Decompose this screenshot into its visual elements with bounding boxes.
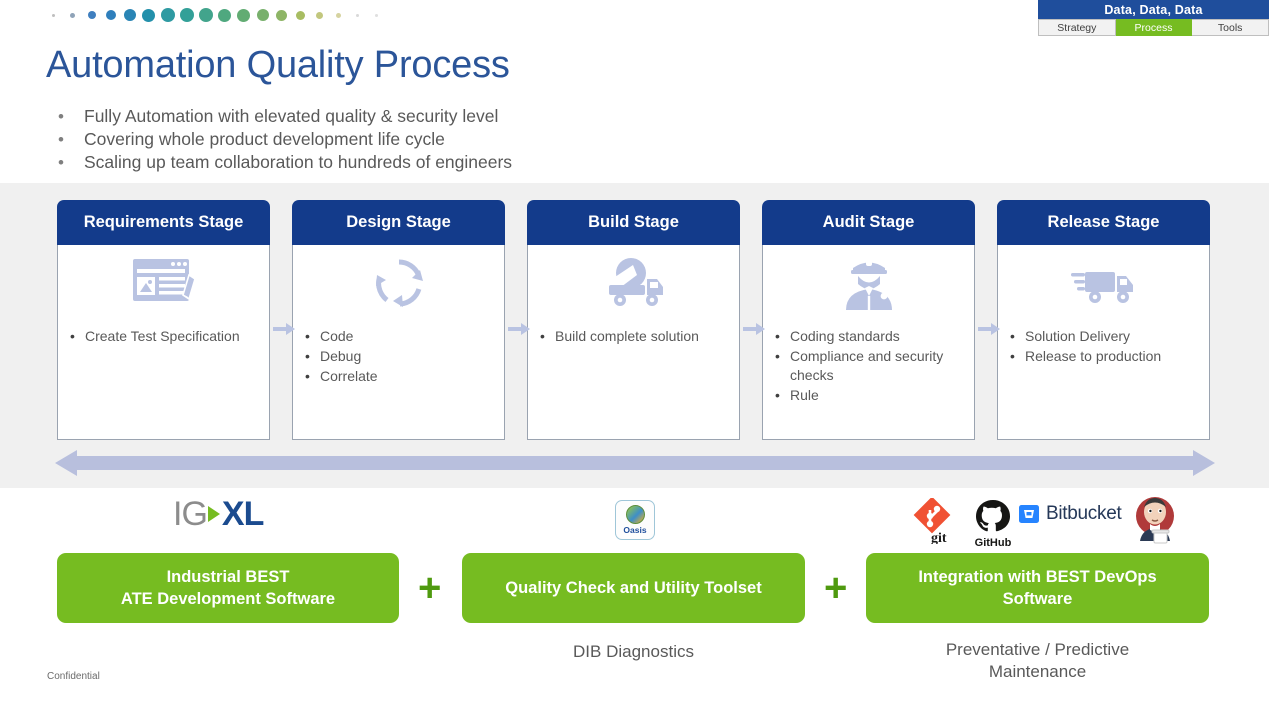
- list-item: • Release to production: [1010, 347, 1199, 366]
- stage-title: Design Stage: [292, 200, 505, 245]
- list-item: • Rule: [775, 386, 964, 405]
- decorative-dot: [375, 14, 378, 17]
- pillar-line-2: ATE Development Software: [121, 588, 335, 610]
- stage-bullet-text: Release to production: [1025, 347, 1161, 366]
- document-edit-icon: [58, 245, 269, 321]
- tab-process[interactable]: Process: [1116, 19, 1193, 36]
- bullet-text: Covering whole product development life …: [84, 128, 445, 150]
- stage-card-release[interactable]: Release Stage • S: [997, 200, 1210, 440]
- bullet-marker-icon: •: [58, 152, 84, 173]
- jenkins-logo: [1132, 495, 1178, 545]
- list-item: • Compliance and security checks: [775, 347, 964, 385]
- bullet-marker-icon: •: [775, 386, 790, 405]
- list-item: • Fully Automation with elevated quality…: [58, 105, 858, 127]
- oasis-globe-icon: [626, 505, 645, 524]
- bullet-marker-icon: •: [775, 347, 790, 366]
- decorative-dot: [237, 9, 250, 22]
- caption-preventative-maintenance: Preventative / Predictive Maintenance: [866, 639, 1209, 683]
- caption-line-2: Maintenance: [866, 661, 1209, 683]
- bitbucket-logo-label: Bitbucket: [1046, 503, 1121, 525]
- bullet-marker-icon: •: [305, 367, 320, 386]
- stage-card-row: Requirements Stage: [0, 200, 1269, 445]
- decorative-dot: [336, 13, 341, 18]
- delivery-truck-icon: [998, 245, 1209, 321]
- git-logo: git: [908, 498, 956, 544]
- plus-separator-2: +: [824, 568, 847, 608]
- stage-title: Audit Stage: [762, 200, 975, 245]
- page-title: Automation Quality Process: [46, 44, 510, 87]
- pillar-line-1: Integration with BEST DevOps: [918, 566, 1156, 588]
- stage-bullet-text: Solution Delivery: [1025, 327, 1130, 346]
- stage-body: • Coding standards • Compliance and secu…: [762, 245, 975, 440]
- stage-bullet-text: Coding standards: [790, 327, 900, 346]
- bullet-marker-icon: •: [305, 347, 320, 366]
- bitbucket-mark-icon: [1018, 503, 1040, 525]
- list-item: • Create Test Specification: [70, 327, 259, 346]
- tab-tools[interactable]: Tools: [1192, 19, 1269, 36]
- stage-title: Build Stage: [527, 200, 740, 245]
- stage-card-requirements[interactable]: Requirements Stage: [57, 200, 270, 440]
- bullet-marker-icon: •: [58, 129, 84, 150]
- stage-body: • Solution Delivery • Release to product…: [997, 245, 1210, 440]
- bullet-text: Scaling up team collaboration to hundred…: [84, 151, 512, 173]
- header-bullet-list: • Fully Automation with elevated quality…: [58, 105, 858, 174]
- bullet-marker-icon: •: [1010, 327, 1025, 346]
- bullet-marker-icon: •: [540, 327, 555, 346]
- decorative-dot: [161, 8, 175, 22]
- decorative-dot: [88, 11, 96, 19]
- igxl-logo-triangle-icon: [208, 506, 220, 522]
- igxl-logo-text-ig: IG: [173, 494, 207, 534]
- stage-bullet-text: Compliance and security checks: [790, 347, 964, 385]
- plus-separator-1: +: [418, 568, 441, 608]
- stage-body: • Build complete solution: [527, 245, 740, 440]
- stage-bullet-list: • Coding standards • Compliance and secu…: [763, 321, 974, 405]
- stage-title: Requirements Stage: [57, 200, 270, 245]
- decorative-dot-strip: [44, 7, 386, 23]
- tab-strategy[interactable]: Strategy: [1038, 19, 1116, 36]
- stage-card-build[interactable]: Build Stage • Build complete: [527, 200, 740, 440]
- bullet-marker-icon: •: [1010, 347, 1025, 366]
- igxl-logo: IG XL: [173, 494, 263, 534]
- stage-card-audit[interactable]: Audit Stage • Coding standards: [762, 200, 975, 440]
- decorative-dot: [296, 11, 305, 20]
- stage-bullet-text: Rule: [790, 386, 819, 405]
- bitbucket-logo: Bitbucket: [1018, 503, 1121, 525]
- oasis-logo-label: Oasis: [623, 525, 646, 535]
- stage-bullet-list: • Build complete solution: [528, 321, 739, 346]
- svg-text:git: git: [931, 531, 947, 544]
- nav-block: Data, Data, Data Strategy Process Tools: [1038, 0, 1269, 36]
- decorative-dot: [70, 13, 75, 18]
- cement-mixer-truck-icon: [528, 245, 739, 321]
- decorative-dot: [356, 14, 359, 17]
- decorative-dot: [52, 14, 55, 17]
- github-logo: GitHub: [968, 498, 1018, 544]
- stage-bullet-text: Create Test Specification: [85, 327, 240, 346]
- stage-bullet-text: Correlate: [320, 367, 378, 386]
- confidential-label: Confidential: [47, 671, 100, 682]
- nav-tabs: Strategy Process Tools: [1038, 19, 1269, 36]
- bullet-marker-icon: •: [305, 327, 320, 346]
- list-item: • Solution Delivery: [1010, 327, 1199, 346]
- stage-card-design[interactable]: Design Stage • Code: [292, 200, 505, 440]
- list-item: • Covering whole product development lif…: [58, 128, 858, 150]
- pillar-line-1: Quality Check and Utility Toolset: [505, 577, 761, 599]
- nav-title: Data, Data, Data: [1038, 0, 1269, 19]
- oasis-logo: Oasis: [615, 500, 655, 540]
- decorative-dot: [276, 10, 287, 21]
- stage-body: • Code • Debug • Correlate: [292, 245, 505, 440]
- bullet-text: Fully Automation with elevated quality &…: [84, 105, 498, 127]
- bullet-marker-icon: •: [775, 327, 790, 346]
- stage-bullet-list: • Create Test Specification: [58, 321, 269, 346]
- caption-line-1: Preventative / Predictive: [866, 639, 1209, 661]
- pillar-industrial-best[interactable]: Industrial BEST ATE Development Software: [57, 553, 399, 623]
- stage-bullet-list: • Solution Delivery • Release to product…: [998, 321, 1209, 366]
- list-item: • Scaling up team collaboration to hundr…: [58, 151, 858, 173]
- stage-connector-arrow-icon: [508, 322, 530, 334]
- list-item: • Code: [305, 327, 494, 346]
- stage-bullet-list: • Code • Debug • Correlate: [293, 321, 504, 386]
- cycle-arrows-icon: [293, 245, 504, 321]
- pillar-line-1: Industrial BEST: [121, 566, 335, 588]
- pillar-quality-check[interactable]: Quality Check and Utility Toolset: [462, 553, 805, 623]
- igxl-logo-text-xl: XL: [222, 494, 263, 534]
- stage-title: Release Stage: [997, 200, 1210, 245]
- list-item: • Build complete solution: [540, 327, 729, 346]
- stage-connector-arrow-icon: [273, 322, 295, 334]
- decorative-dot: [218, 9, 231, 22]
- stage-connector-arrow-icon: [743, 322, 765, 334]
- stage-body: • Create Test Specification: [57, 245, 270, 440]
- decorative-dot: [316, 12, 323, 19]
- bullet-marker-icon: •: [70, 327, 85, 346]
- decorative-dot: [142, 9, 155, 22]
- decorative-dot: [106, 10, 116, 20]
- decorative-dot: [257, 9, 269, 21]
- list-item: • Correlate: [305, 367, 494, 386]
- pillar-line-2: Software: [918, 588, 1156, 610]
- list-item: • Coding standards: [775, 327, 964, 346]
- decorative-dot: [124, 9, 136, 21]
- pillar-devops-integration[interactable]: Integration with BEST DevOps Software: [866, 553, 1209, 623]
- police-officer-icon: [763, 245, 974, 321]
- decorative-dot: [180, 8, 194, 22]
- stage-bullet-text: Debug: [320, 347, 361, 366]
- caption-dib-diagnostics: DIB Diagnostics: [462, 641, 805, 663]
- stage-bullet-text: Build complete solution: [555, 327, 699, 346]
- bidirectional-flow-arrow-icon: [55, 450, 1215, 476]
- bullet-marker-icon: •: [58, 106, 84, 127]
- github-logo-label: GitHub: [968, 538, 1018, 549]
- list-item: • Debug: [305, 347, 494, 366]
- stage-bullet-text: Code: [320, 327, 353, 346]
- decorative-dot: [199, 8, 213, 22]
- stage-connector-arrow-icon: [978, 322, 1000, 334]
